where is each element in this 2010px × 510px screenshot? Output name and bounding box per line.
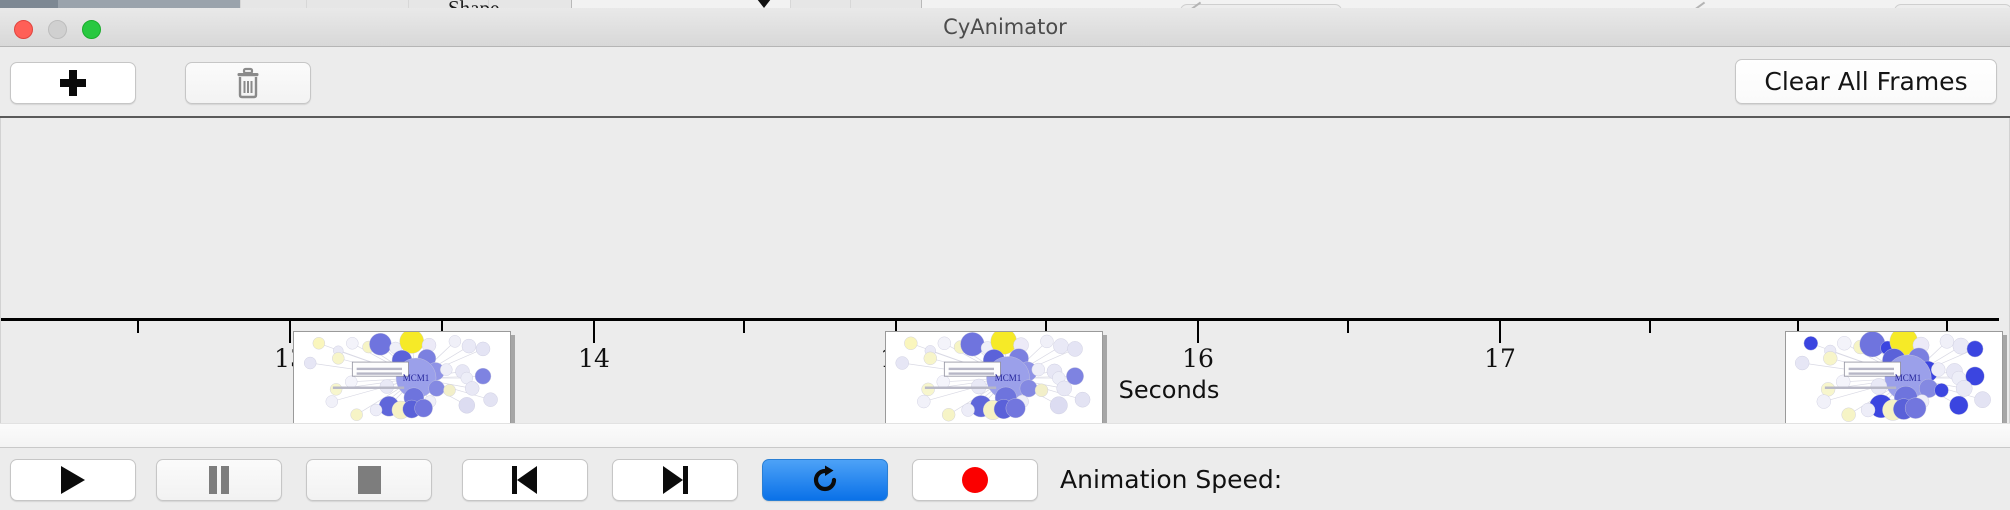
skip-back-icon — [512, 466, 538, 494]
network-hub-node-label: MCM1 — [1895, 373, 1922, 383]
record-icon — [962, 467, 988, 493]
play-icon — [61, 466, 85, 494]
network-hub-node-label: MCM1 — [403, 373, 430, 383]
background-arrow-icon — [757, 0, 771, 8]
record-button[interactable] — [912, 459, 1038, 501]
stop-button[interactable] — [306, 459, 432, 501]
timeline-tick-major — [1197, 321, 1199, 343]
timeline-tick-major — [593, 321, 595, 343]
timeline-axis-line — [1, 318, 1999, 321]
skip-forward-icon — [662, 466, 688, 494]
timeline-tick-major — [1499, 321, 1501, 343]
timeline-frame-thumbnail[interactable]: MCM1 — [1785, 331, 2003, 423]
delete-frame-button[interactable] — [185, 62, 311, 104]
pause-button[interactable] — [156, 459, 282, 501]
window-title: CyAnimator — [0, 8, 2010, 46]
stop-icon — [358, 466, 381, 494]
trash-icon — [234, 67, 262, 99]
timeline-frame-thumbnail[interactable]: MCM1 — [293, 331, 511, 423]
timeline-tick-minor — [1347, 321, 1349, 333]
frame-toolbar: Clear All Frames — [0, 47, 2010, 118]
timeline-tick-label: 14 — [578, 344, 610, 373]
timeline-panel[interactable]: 2131415161718 MCM1MCM1MCM1 Seconds — [0, 118, 2010, 423]
cyanimator-window: CyAnimator Clear All Frames — [0, 8, 2010, 510]
plus-icon — [60, 70, 86, 96]
timeline-scrollbar-track[interactable] — [0, 423, 2010, 448]
skip-to-end-button[interactable] — [612, 459, 738, 501]
clear-all-frames-button[interactable]: Clear All Frames — [1735, 59, 1997, 104]
skip-to-start-button[interactable] — [462, 459, 588, 501]
timeline-tick-label: 2 — [0, 344, 2, 373]
title-bar[interactable]: CyAnimator — [0, 8, 2010, 47]
timeline-axis-title: Seconds — [1119, 376, 1220, 404]
loop-icon — [810, 465, 840, 495]
animation-speed-label: Animation Speed: — [1060, 459, 1282, 501]
timeline-tick-minor — [1649, 321, 1651, 333]
timeline-tick-label: 17 — [1484, 344, 1516, 373]
timeline-tick-label: 16 — [1182, 344, 1214, 373]
timeline-tick-major — [289, 321, 291, 343]
add-frame-button[interactable] — [10, 62, 136, 104]
timeline-frame-thumbnail[interactable]: MCM1 — [885, 331, 1103, 423]
network-hub-node-label: MCM1 — [995, 373, 1022, 383]
pause-icon — [208, 466, 230, 494]
cyanimator-window-root: Shape CyAnimator — [0, 0, 2010, 510]
loop-button[interactable] — [762, 459, 888, 501]
timeline-tick-minor — [137, 321, 139, 333]
play-button[interactable] — [10, 459, 136, 501]
timeline-tick-minor — [743, 321, 745, 333]
playback-control-bar: Animation Speed: — [0, 450, 2010, 510]
